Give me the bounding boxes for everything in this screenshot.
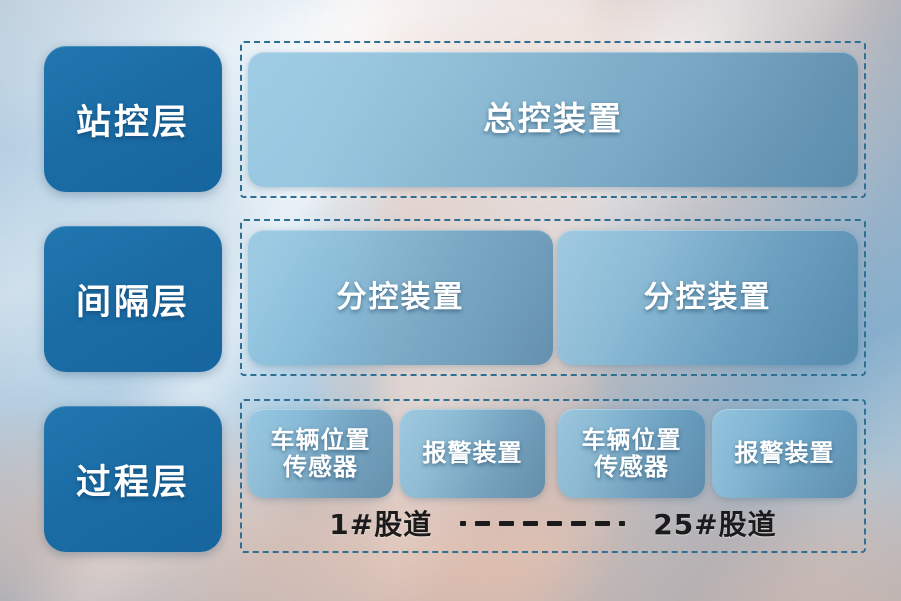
device-sub-control-1: 分控装置 [248, 230, 553, 365]
architecture-diagram: 站控层 总控装置 间隔层 分控装置 分控装置 过程层 车辆位置 传感器 报警装置… [0, 0, 901, 601]
device-label: 车辆位置 传感器 [582, 427, 682, 481]
device-label: 报警装置 [423, 440, 523, 467]
layer-chip-process-level: 过程层 [44, 406, 222, 552]
device-label: 分控装置 [644, 281, 772, 315]
layer-chip-label: 间隔层 [76, 274, 190, 325]
track-range-row: 1#股道 25#股道 [248, 502, 858, 544]
device-sub-control-2: 分控装置 [557, 230, 858, 365]
device-vehicle-position-sensor-1: 车辆位置 传感器 [248, 409, 393, 498]
device-vehicle-position-sensor-2: 车辆位置 传感器 [558, 409, 705, 498]
device-label: 车辆位置 传感器 [271, 427, 371, 481]
layer-chip-station-control: 站控层 [44, 46, 222, 192]
device-label: 分控装置 [337, 281, 465, 315]
layer-chip-bay-level: 间隔层 [44, 226, 222, 372]
device-master-control: 总控装置 [248, 52, 858, 187]
track-label-last: 25#股道 [653, 503, 776, 543]
device-label: 总控装置 [483, 101, 623, 138]
device-alarm-device-2: 报警装置 [712, 409, 857, 498]
layer-chip-label: 站控层 [76, 94, 190, 145]
track-label-first: 1#股道 [329, 503, 432, 543]
device-alarm-device-1: 报警装置 [400, 409, 545, 498]
layer-chip-label: 过程层 [76, 454, 190, 505]
track-range-separator-icon [454, 521, 631, 526]
device-label: 报警装置 [735, 440, 835, 467]
